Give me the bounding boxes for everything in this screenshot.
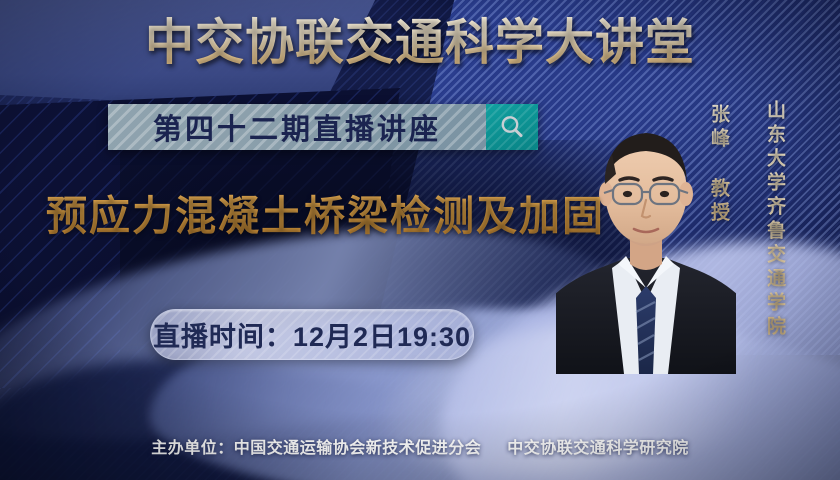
- search-icon: [499, 114, 525, 140]
- live-time-label: 直播时间：12月2日19:30: [153, 315, 471, 354]
- main-title: 中交协联交通科学大讲堂: [0, 12, 840, 74]
- live-time-pill: 直播时间：12月2日19:30: [150, 309, 474, 360]
- lecture-topic: 预应力混凝土桥梁检测及加固: [46, 190, 605, 242]
- episode-banner-body: 第四十二期直播讲座: [108, 104, 486, 150]
- episode-banner: 第四十二期直播讲座: [108, 104, 538, 150]
- footer-organizers: 主办单位：中国交通运输协会新技术促进分会中交协联交通科学研究院: [0, 434, 840, 458]
- footer-organizer-1: 中国交通运输协会新技术促进分会: [234, 440, 482, 457]
- episode-label: 第四十二期直播讲座: [153, 106, 441, 148]
- footer-organizer-2: 中交协联交通科学研究院: [507, 440, 689, 457]
- search-button[interactable]: [486, 104, 538, 150]
- speaker-affiliation-vertical: 山东大学齐鲁交通学院: [762, 100, 786, 340]
- speaker-name-vertical: 张峰 教授: [706, 104, 730, 226]
- live-lecture-poster: 中交协联交通科学大讲堂 中交协联交通科学大讲堂 第四十二期直播讲座 预应力混凝土…: [0, 0, 840, 480]
- footer-organizer-label: 主办单位：: [151, 440, 234, 457]
